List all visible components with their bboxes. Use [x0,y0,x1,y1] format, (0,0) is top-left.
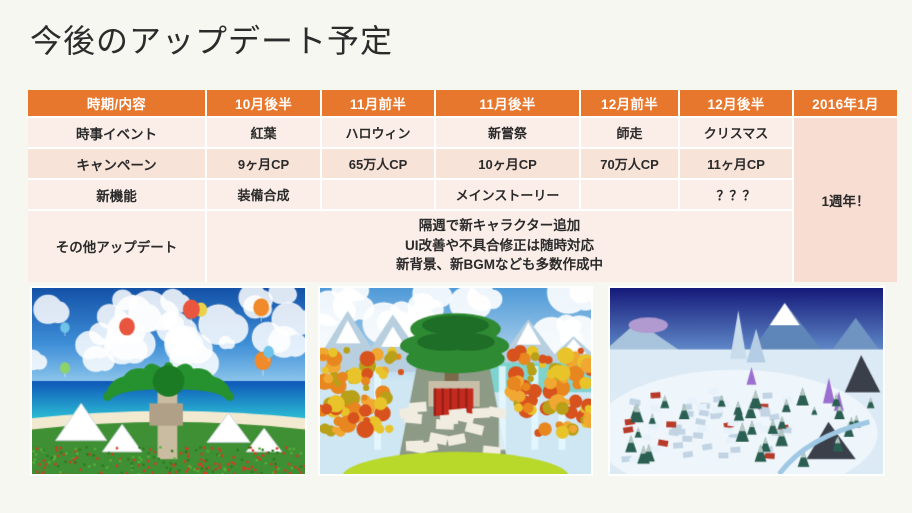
column-header-dec-early: 12月前半 [580,90,679,117]
cell-events-dec-late: クリスマス [679,117,793,148]
cell-other-updates: 隔週で新キャラクター追加 UI改善や不具合修正は随時対応 新背景、新BGMなども… [206,210,793,282]
row-label-new-features: 新機能 [28,179,206,210]
cell-campaign-nov-early: 65万人CP [321,148,435,179]
column-header-period: 時期/内容 [28,90,206,117]
cell-events-oct-late: 紅葉 [206,117,321,148]
cell-events-nov-late: 新嘗祭 [435,117,580,148]
artwork-tropical-beach-town [30,286,307,476]
column-header-nov-late: 11月後半 [435,90,580,117]
cell-anniversary: 1週年！ [793,117,897,282]
row-label-other-updates: その他アップデート [28,210,206,282]
cell-features-nov-late: メインストーリー [435,179,580,210]
cell-events-nov-early: ハロウィン [321,117,435,148]
cell-features-oct-late: 装備合成 [206,179,321,210]
table-row: キャンペーン 9ヶ月CP 65万人CP 10ヶ月CP 70万人CP 11ヶ月CP [28,148,897,179]
artwork-canvas [610,288,883,474]
column-header-jan-2016: 2016年1月 [793,90,897,117]
column-header-oct-late: 10月後半 [206,90,321,117]
table-row: 新機能 装備合成 メインストーリー ？？？ [28,179,897,210]
artwork-canvas [320,288,591,474]
table-row: その他アップデート 隔週で新キャラクター追加 UI改善や不具合修正は随時対応 新… [28,210,897,282]
cell-campaign-dec-late: 11ヶ月CP [679,148,793,179]
cell-campaign-dec-early: 70万人CP [580,148,679,179]
table-row: 時事イベント 紅葉 ハロウィン 新嘗祭 師走 クリスマス 1週年！ [28,117,897,148]
other-update-line: 新背景、新BGMなども多数作成中 [207,255,792,275]
update-schedule-table: 時期/内容 10月後半 11月前半 11月後半 12月前半 12月後半 2016… [28,90,897,282]
row-label-current-events: 時事イベント [28,117,206,148]
cell-events-dec-early: 師走 [580,117,679,148]
column-header-dec-late: 12月後半 [679,90,793,117]
cell-features-nov-early [321,179,435,210]
table-header-row: 時期/内容 10月後半 11月前半 11月後半 12月前半 12月後半 2016… [28,90,897,117]
column-header-nov-early: 11月前半 [321,90,435,117]
cell-features-dec-early [580,179,679,210]
cell-features-dec-late: ？？？ [679,179,793,210]
cell-campaign-oct-late: 9ヶ月CP [206,148,321,179]
artwork-canvas [32,288,305,474]
row-label-campaign: キャンペーン [28,148,206,179]
artwork-autumn-mountain-village [318,286,593,476]
page-title: 今後のアップデート予定 [30,22,393,60]
other-update-line: UI改善や不具合修正は随時対応 [207,236,792,256]
cell-campaign-nov-late: 10ヶ月CP [435,148,580,179]
artwork-snow-mountain-town [608,286,885,476]
other-update-line: 隔週で新キャラクター追加 [207,216,792,236]
artwork-gallery [0,286,912,478]
